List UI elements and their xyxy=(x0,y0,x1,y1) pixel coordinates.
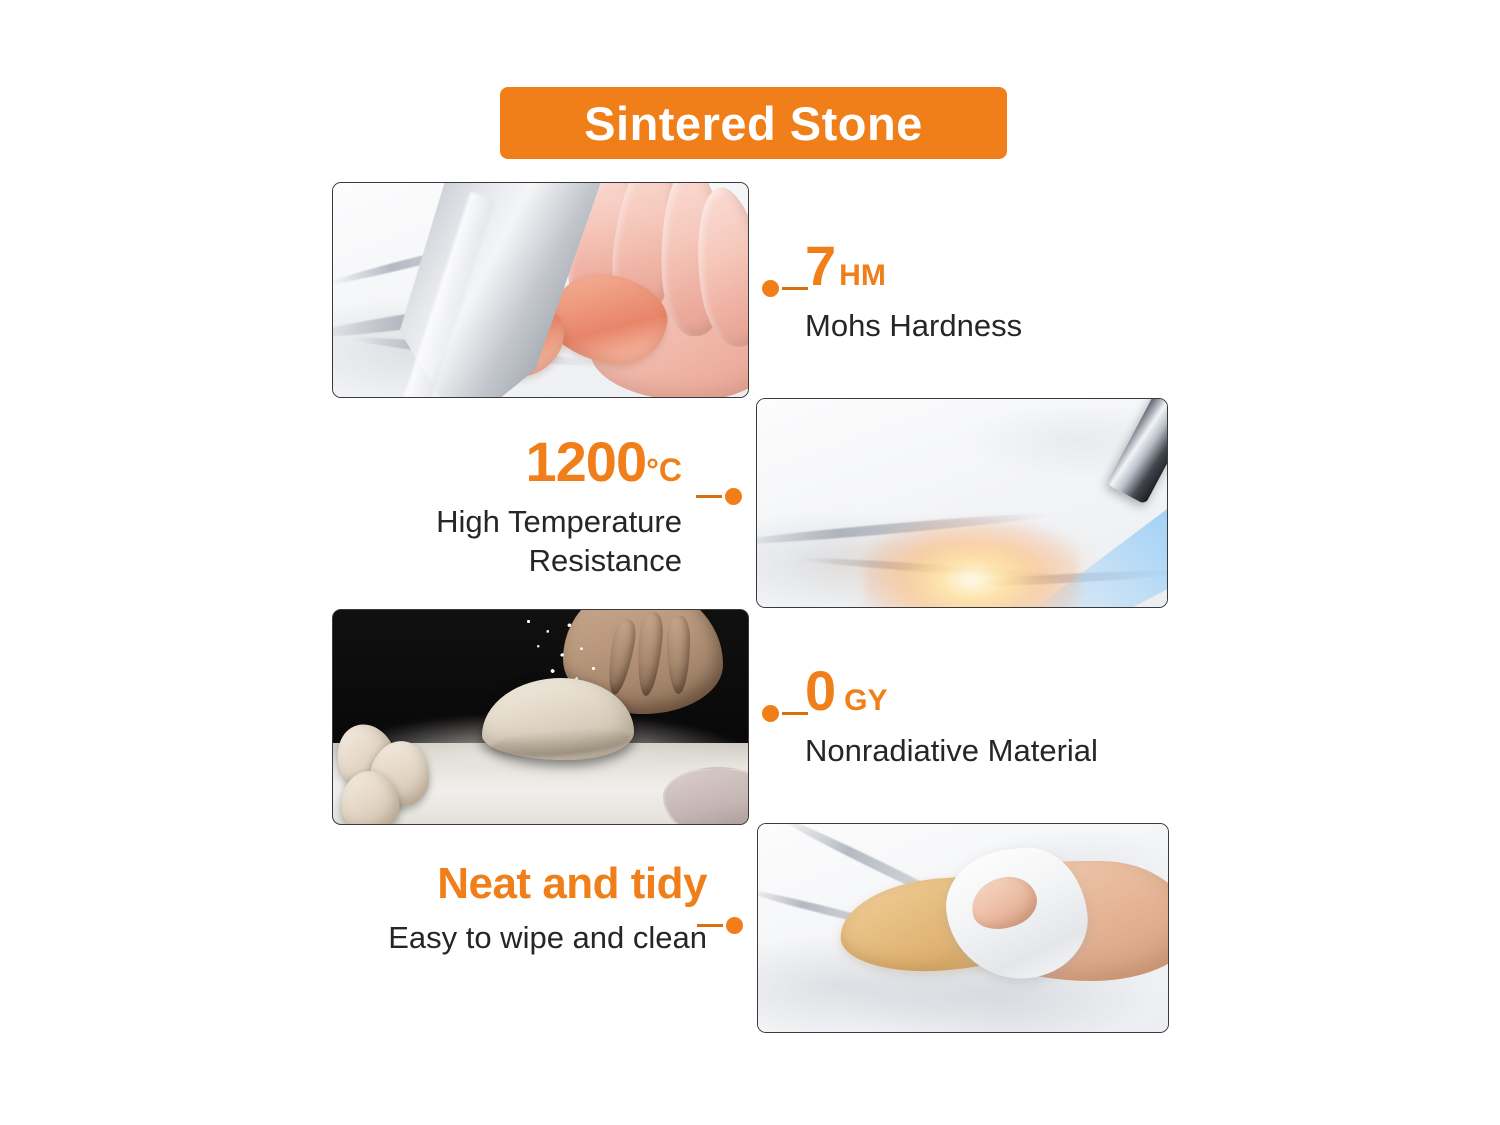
feature-caption: Nonradiative Material xyxy=(805,731,1098,770)
feature-headline: 7HM xyxy=(805,238,1022,294)
feature-neat-and-tidy: Neat and tidy Easy to wipe and clean xyxy=(388,862,707,957)
feature-unit: HM xyxy=(839,259,886,292)
feature-mohs-hardness: 7HM Mohs Hardness xyxy=(805,238,1022,345)
feature-value: 0 xyxy=(805,659,835,722)
feature-caption: Mohs Hardness xyxy=(805,306,1022,345)
feature-headline: 1200°C xyxy=(436,434,682,490)
feature-caption: High Temperature Resistance xyxy=(436,502,682,580)
scene-torch-test xyxy=(757,399,1167,607)
feature-headline: 0GY xyxy=(805,663,1098,719)
connector-high-temperature-resistance xyxy=(696,488,742,505)
feature-unit: °C xyxy=(646,452,682,488)
feature-nonradiative-material: 0GY Nonradiative Material xyxy=(805,663,1098,770)
feature-caption: Easy to wipe and clean xyxy=(388,918,707,957)
flame-hotspot xyxy=(864,520,1079,608)
connector-nonradiative-material xyxy=(762,705,808,722)
feature-value: 7 xyxy=(805,234,835,297)
scene-marble-cutting xyxy=(333,183,748,397)
connector-dot-icon xyxy=(725,488,742,505)
scene-wipe-clean xyxy=(758,824,1168,1032)
feature-unit: GY xyxy=(844,684,887,717)
page-title: Sintered Stone xyxy=(584,100,923,147)
photo-hands-dusting-flour-on-dough xyxy=(332,609,749,825)
feature-high-temperature-resistance: 1200°C High Temperature Resistance xyxy=(436,434,682,580)
photo-blowtorch-flame-on-marble xyxy=(756,398,1168,608)
feature-value: Neat and tidy xyxy=(437,859,707,908)
photo-hand-wiping-spill-with-cloth xyxy=(757,823,1169,1033)
connector-dot-icon xyxy=(726,917,743,934)
scene-baking xyxy=(333,610,748,824)
photo-knife-cutting-salmon-on-marble xyxy=(332,182,749,398)
sintered-stone-infographic: Sintered Stone 7HM Mohs Hardness xyxy=(0,0,1500,1125)
feature-headline: Neat and tidy xyxy=(388,862,707,906)
connector-dot-icon xyxy=(762,280,779,297)
feature-value: 1200 xyxy=(526,430,647,493)
connector-mohs-hardness xyxy=(762,280,808,297)
page-title-banner: Sintered Stone xyxy=(500,87,1007,159)
connector-dot-icon xyxy=(762,705,779,722)
connector-line xyxy=(696,495,722,498)
